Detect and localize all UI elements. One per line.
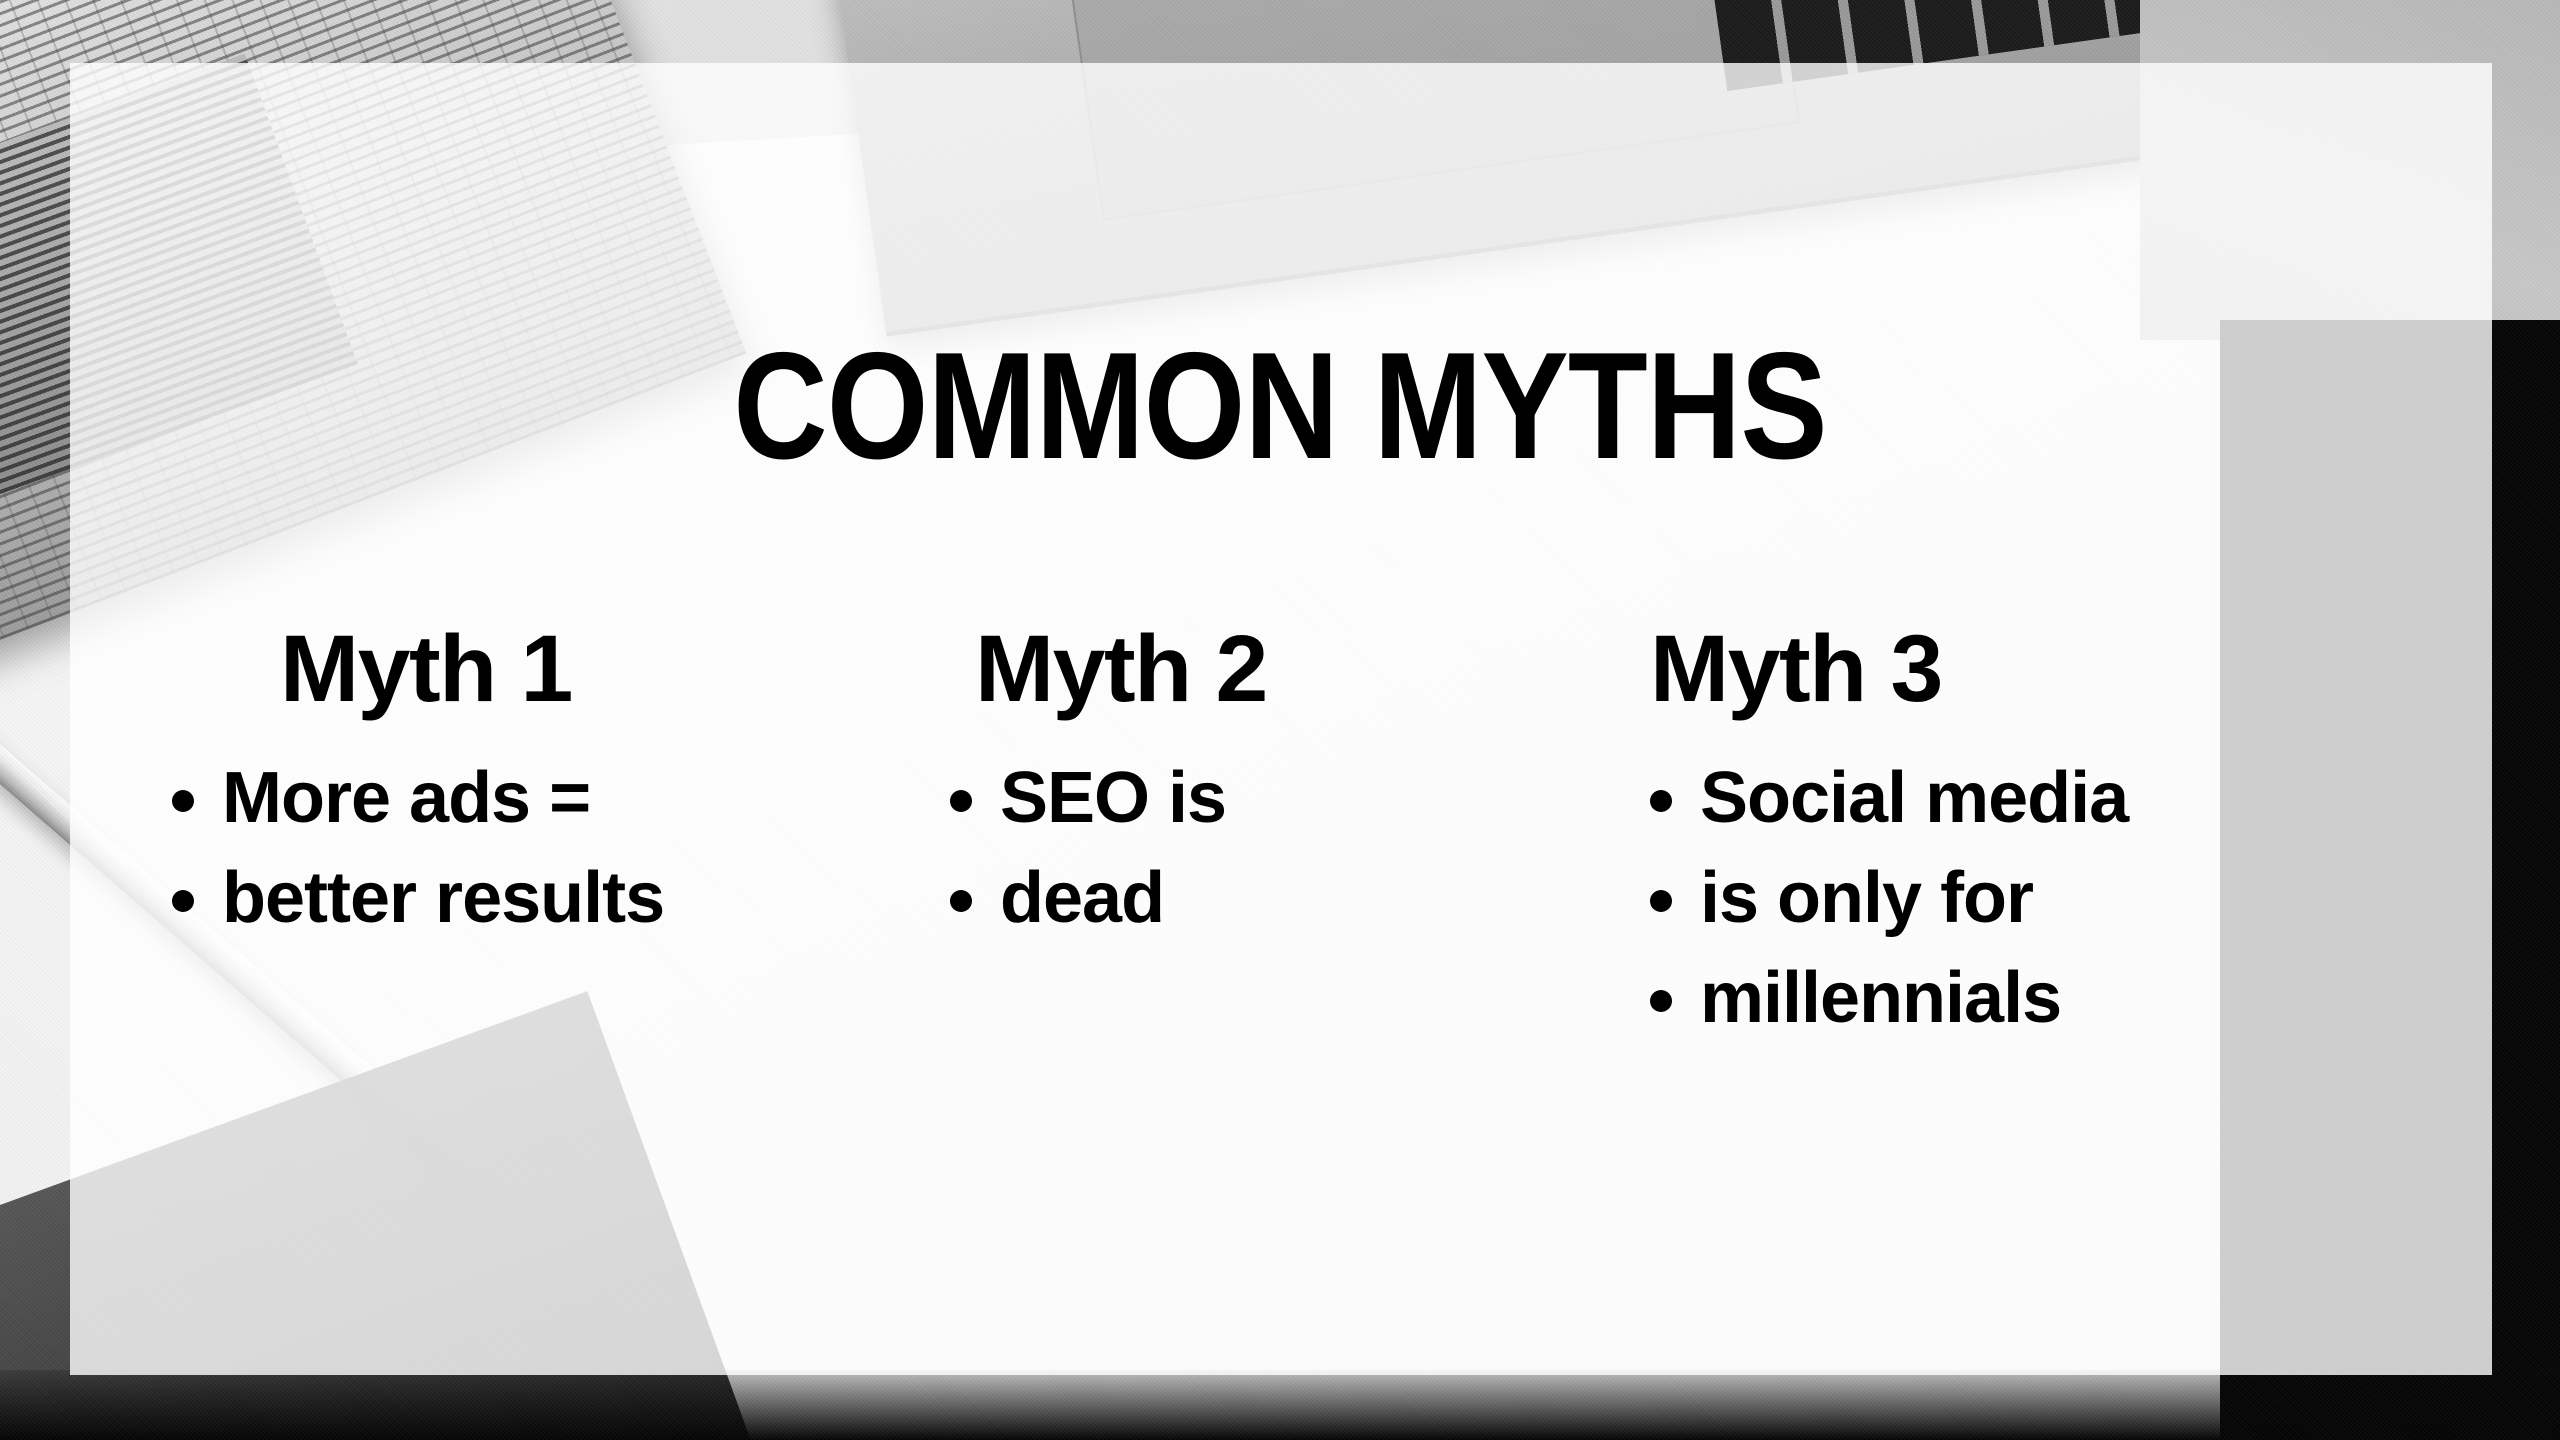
myth-column-3: Myth 3 Social media is only for millenni… — [1650, 620, 2410, 1062]
myth-column-1: Myth 1 More ads = better results — [150, 620, 950, 962]
bullet-dot-icon — [1650, 790, 1672, 812]
myth-column-3-bullets: Social media is only for millennials — [1650, 762, 2410, 1034]
list-item: SEO is — [950, 762, 1650, 834]
list-item-label: Social media — [1700, 762, 2128, 834]
myth-column-2-heading: Myth 2 — [950, 620, 1650, 720]
list-item: dead — [950, 862, 1650, 934]
slide-content: COMMON MYTHS Myth 1 More ads = better re… — [0, 0, 2560, 1440]
bullet-dot-icon — [950, 890, 972, 912]
page-title: COMMON MYTHS — [179, 330, 2381, 482]
myth-column-2: Myth 2 SEO is dead — [950, 620, 1650, 962]
list-item: Social media — [1650, 762, 2410, 834]
bullet-dot-icon — [172, 890, 194, 912]
list-item-label: is only for — [1700, 862, 2033, 934]
list-item-label: SEO is — [1000, 762, 1226, 834]
list-item-label: better results — [222, 862, 664, 934]
list-item-label: dead — [1000, 862, 1164, 934]
myth-column-1-heading: Myth 1 — [150, 620, 950, 720]
list-item: better results — [172, 862, 950, 934]
list-item-label: More ads = — [222, 762, 590, 834]
myth-columns: Myth 1 More ads = better results Myth 2 — [150, 620, 2410, 1062]
bullet-dot-icon — [1650, 890, 1672, 912]
myth-column-2-bullets: SEO is dead — [950, 762, 1650, 934]
slide-canvas: COMMON MYTHS Myth 1 More ads = better re… — [0, 0, 2560, 1440]
list-item: More ads = — [172, 762, 950, 834]
myth-column-1-bullets: More ads = better results — [150, 762, 950, 934]
list-item: is only for — [1650, 862, 2410, 934]
myth-column-3-heading: Myth 3 — [1650, 620, 2410, 720]
list-item-label: millennials — [1700, 962, 2061, 1034]
bullet-dot-icon — [950, 790, 972, 812]
bullet-dot-icon — [172, 790, 194, 812]
bullet-dot-icon — [1650, 990, 1672, 1012]
list-item: millennials — [1650, 962, 2410, 1034]
